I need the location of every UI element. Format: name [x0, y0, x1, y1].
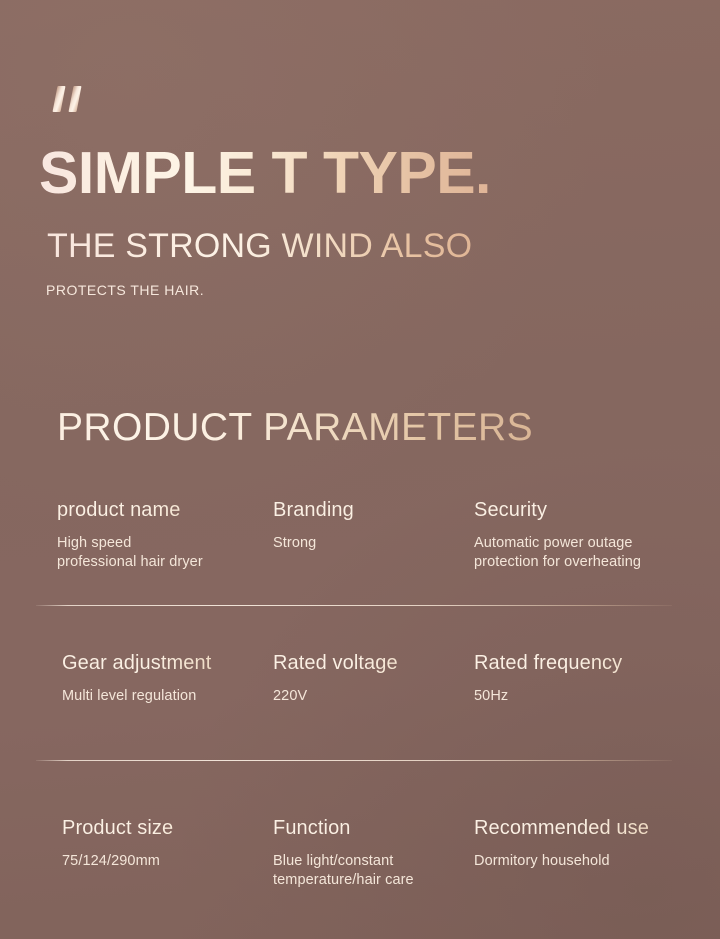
param-cell-recommended-use: Recommended use Dormitory household [474, 818, 700, 871]
quotation-mark-bar-right [68, 86, 81, 112]
quotation-mark-bar-left [52, 86, 65, 112]
page-title: PRODUCT PARAMETERS [57, 408, 533, 447]
param-label: Rated voltage [273, 653, 463, 673]
param-value: Blue light/constanttemperature/hair care [273, 852, 463, 889]
param-label: Product size [62, 818, 262, 838]
hero-tagline: PROTECTS THE HAIR. [46, 283, 204, 297]
quotation-mark-icon [55, 86, 89, 112]
product-detail-page: SIMPLE T TYPE. THE STRONG WIND ALSO PROT… [0, 0, 720, 939]
param-value: Strong [273, 534, 463, 553]
param-cell-security: Security Automatic power outageprotectio… [474, 500, 700, 571]
param-value: Dormitory household [474, 852, 700, 871]
param-label: Gear adjustment [62, 653, 262, 673]
param-label: product name [57, 500, 257, 520]
param-value: 220V [273, 687, 463, 706]
row-divider [36, 605, 672, 606]
param-cell-function: Function Blue light/constanttemperature/… [273, 818, 463, 889]
param-value: High speedprofessional hair dryer [57, 534, 257, 571]
param-label: Function [273, 818, 463, 838]
param-label: Security [474, 500, 700, 520]
param-cell-gear-adjustment: Gear adjustment Multi level regulation [62, 653, 262, 706]
param-value: Automatic power outageprotection for ove… [474, 534, 700, 571]
param-value: 50Hz [474, 687, 700, 706]
hero-headline: SIMPLE T TYPE. [39, 144, 491, 203]
hero-subheading: THE STRONG WIND ALSO [47, 229, 472, 263]
param-value: Multi level regulation [62, 687, 262, 706]
param-cell-branding: Branding Strong [273, 500, 463, 553]
param-cell-product-name: product name High speedprofessional hair… [57, 500, 257, 571]
param-cell-rated-frequency: Rated frequency 50Hz [474, 653, 700, 706]
param-cell-rated-voltage: Rated voltage 220V [273, 653, 463, 706]
param-label: Recommended use [474, 818, 700, 838]
param-value: 75/124/290mm [62, 852, 262, 871]
param-cell-product-size: Product size 75/124/290mm [62, 818, 262, 871]
row-divider [36, 760, 672, 761]
param-label: Branding [273, 500, 463, 520]
param-label: Rated frequency [474, 653, 700, 673]
